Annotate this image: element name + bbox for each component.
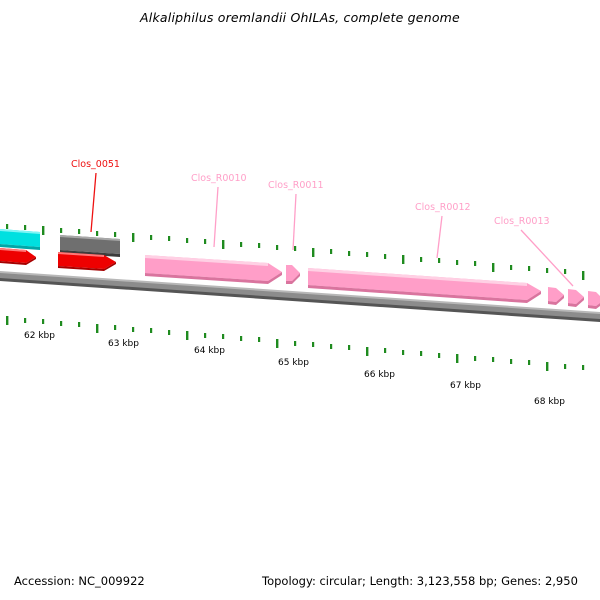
feature-pink-r0013b[interactable]: [568, 289, 584, 307]
leader-line-clos-r0013: [521, 230, 573, 286]
genome-info-label: Topology: circular; Length: 3,123,558 bp…: [262, 574, 578, 588]
gene-label-clos-0051[interactable]: Clos_0051: [71, 159, 120, 170]
leader-line-clos-r0011: [293, 194, 296, 250]
gene-label-group[interactable]: Clos_0051 Clos_R0010 Clos_R0011 Clos_R00…: [71, 159, 550, 227]
axis-tick-label: 67 kbp: [450, 381, 481, 391]
gene-label-clos-r0010[interactable]: Clos_R0010: [191, 173, 247, 184]
feature-pink-r0013a[interactable]: [548, 287, 564, 305]
feature-red-left[interactable]: [0, 248, 36, 265]
axis-tick-label: 62 kbp: [24, 331, 55, 341]
feature-pink-r0011[interactable]: [286, 265, 300, 284]
accession-label: Accession: NC_009922: [14, 574, 145, 588]
axis-tick-label: 64 kbp: [194, 346, 225, 356]
axis-tick-label: 68 kbp: [534, 397, 565, 407]
leader-line-clos-r0010: [214, 187, 218, 247]
genome-viewer: Alkaliphilus oremlandii OhILAs, complete…: [0, 0, 600, 600]
feature-cyan-box[interactable]: [0, 229, 40, 250]
axis-tick-label: 66 kbp: [364, 370, 395, 380]
gene-label-clos-r0013[interactable]: Clos_R0013: [494, 216, 550, 227]
gene-label-clos-r0011[interactable]: Clos_R0011: [268, 180, 324, 191]
leader-line-clos-r0012: [437, 216, 442, 258]
feature-pink-r0013c[interactable]: [588, 291, 600, 309]
gene-label-clos-r0012[interactable]: Clos_R0012: [415, 202, 471, 213]
axis-tick-label: 63 kbp: [108, 339, 139, 349]
genome-map-canvas[interactable]: 62 kbp 63 kbp 64 kbp 65 kbp 66 kbp 67 kb…: [0, 0, 600, 600]
feature-pink-r0010[interactable]: [145, 255, 282, 284]
axis-tick-label: 65 kbp: [278, 358, 309, 368]
leader-line-clos-0051: [91, 173, 96, 232]
